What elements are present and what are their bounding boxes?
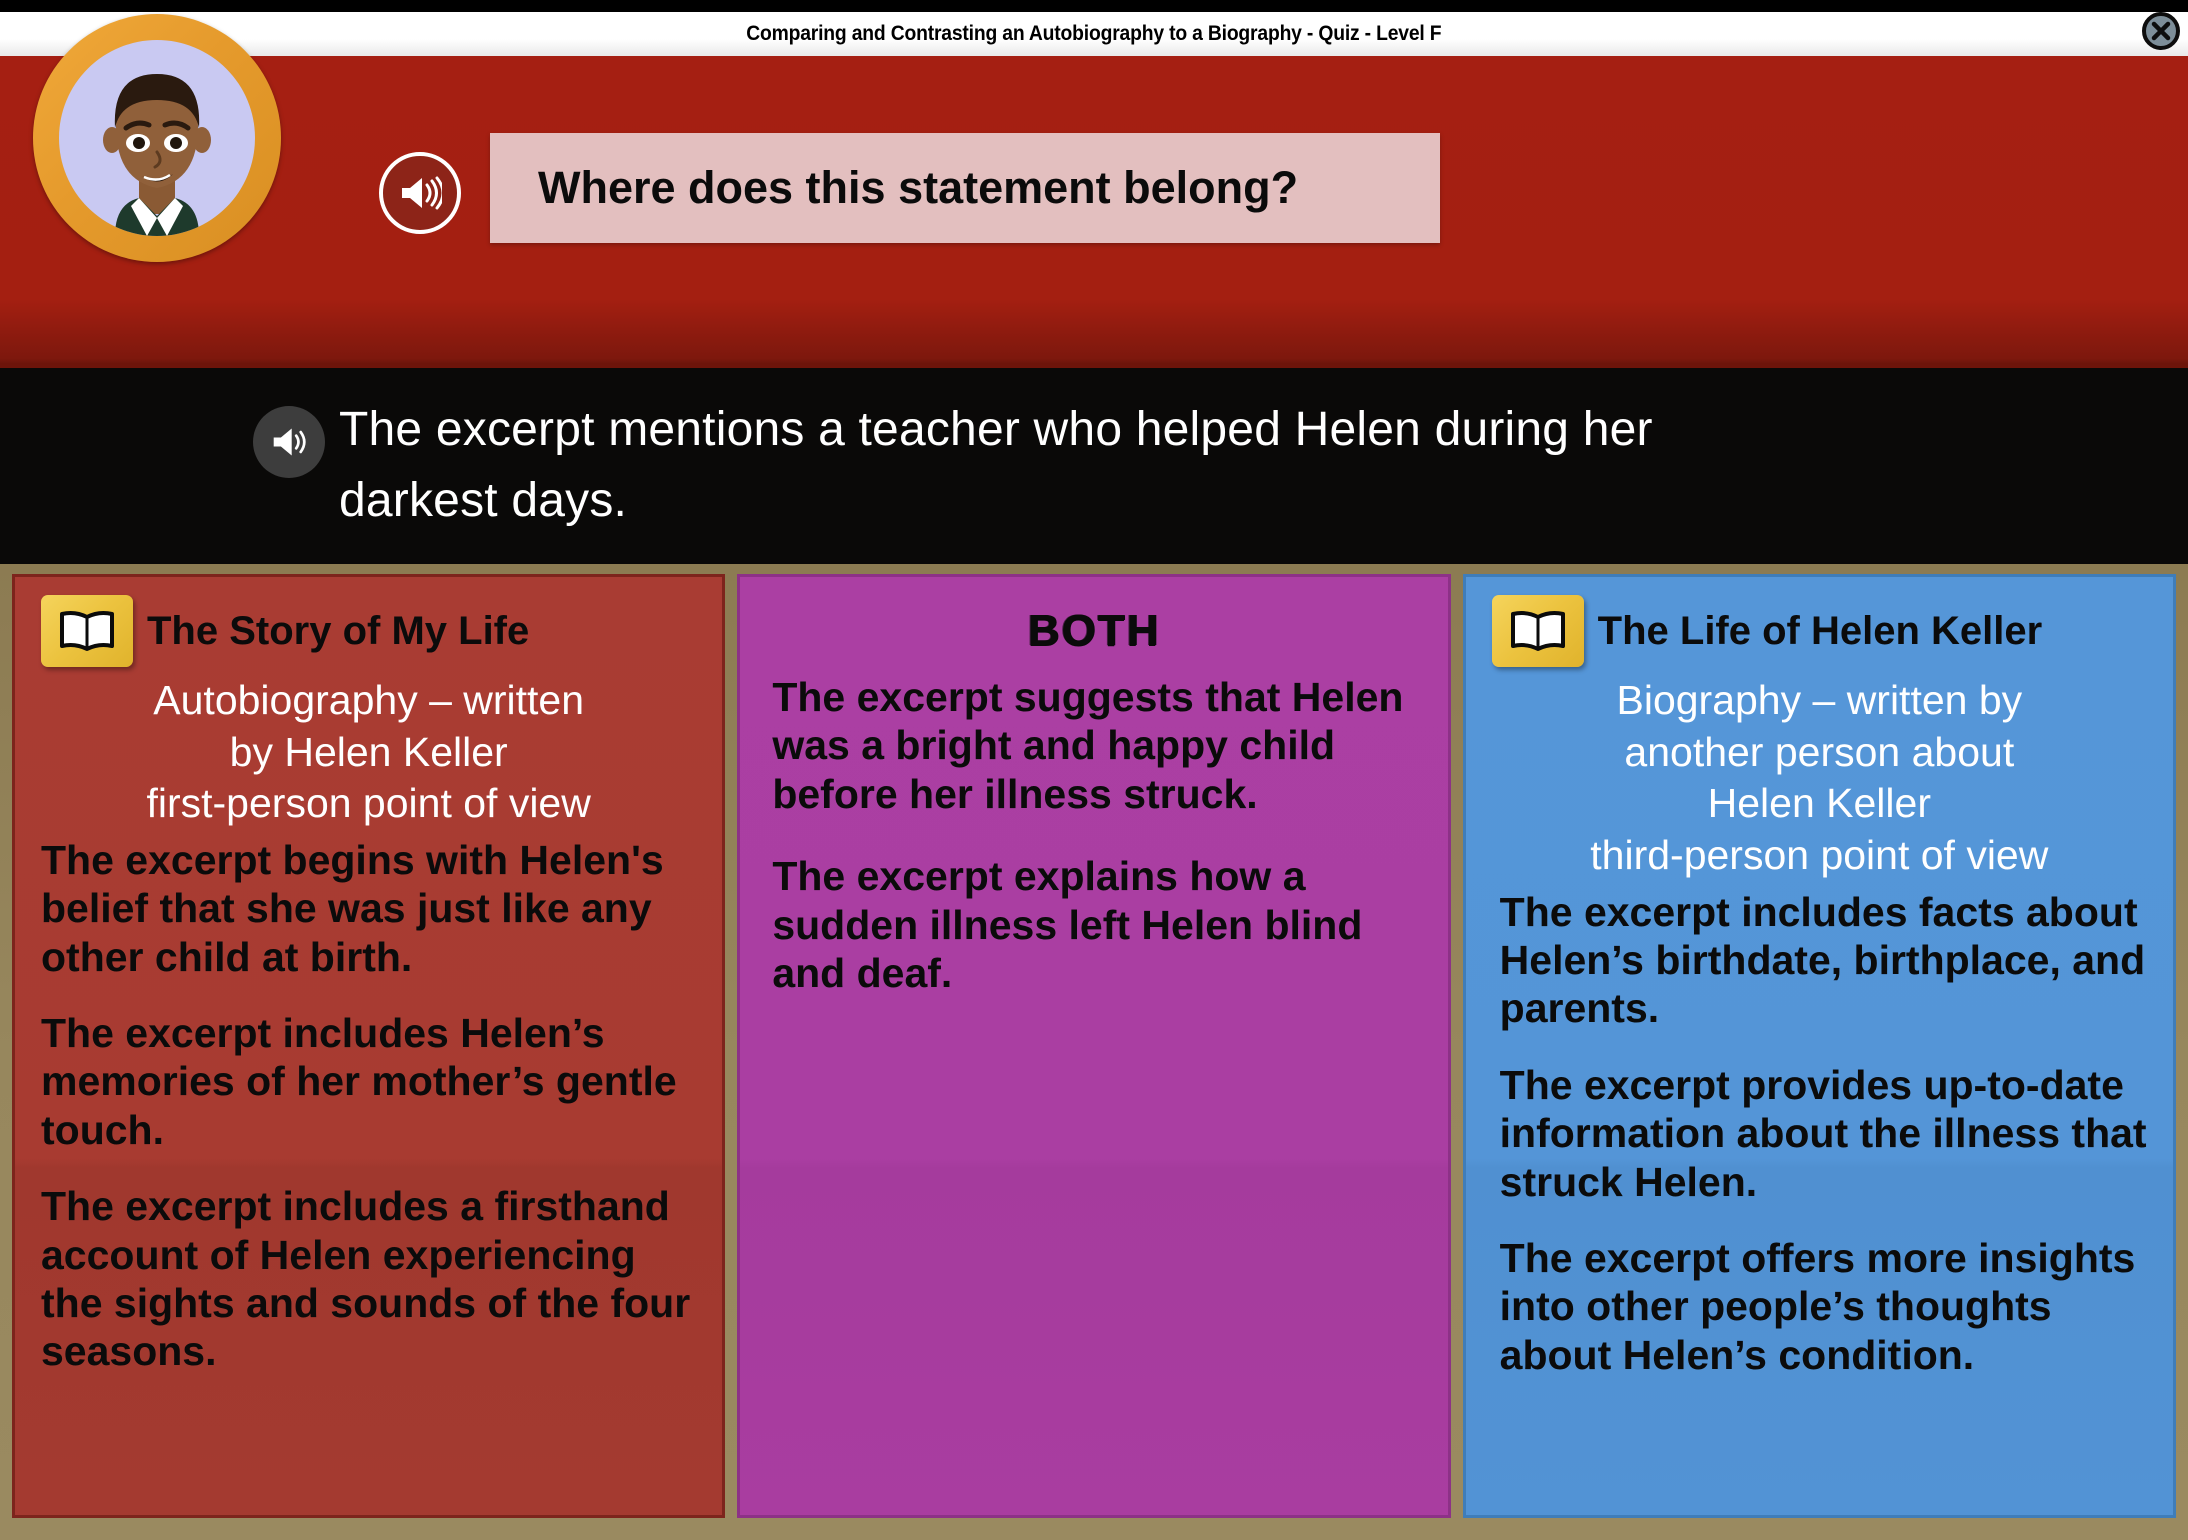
list-item[interactable]: The excerpt begins with Helen's belief t… [41, 836, 700, 981]
list-item[interactable]: The excerpt includes facts about Helen’s… [1500, 888, 2147, 1033]
question-text: Where does this statement belong? [538, 162, 1298, 214]
column-items-left: The excerpt begins with Helen's belief t… [15, 836, 722, 1376]
column-header-both: BOTH [740, 577, 1447, 673]
title-bar: Comparing and Contrasting an Autobiograp… [0, 12, 2188, 56]
column-subtitle-right: Biography – written by another person ab… [1466, 673, 2173, 888]
sorting-columns-frame: The Story of My Life Autobiography – wri… [0, 564, 2188, 1540]
column-header-left: The Story of My Life [15, 577, 722, 673]
column-items-right: The excerpt includes facts about Helen’s… [1466, 888, 2173, 1379]
speaker-icon-question[interactable] [379, 152, 461, 234]
list-item[interactable]: The excerpt provides up-to-date informat… [1500, 1061, 2147, 1206]
open-book-icon [41, 595, 133, 667]
list-item[interactable]: The excerpt includes a firsthand account… [41, 1182, 700, 1376]
list-item[interactable]: The excerpt explains how a sudden illnes… [772, 852, 1421, 997]
list-item[interactable]: The excerpt includes Helen’s memories of… [41, 1009, 700, 1154]
quiz-app: Comparing and Contrasting an Autobiograp… [0, 0, 2188, 1540]
statement-text: The excerpt mentions a teacher who helpe… [339, 394, 1759, 536]
column-items-both: The excerpt suggests that Helen was a br… [740, 673, 1447, 997]
column-life-of-helen-keller[interactable]: The Life of Helen Keller Biography – wri… [1463, 574, 2176, 1518]
column-header-right: The Life of Helen Keller [1466, 577, 2173, 673]
close-icon[interactable] [2142, 12, 2180, 50]
avatar-face [59, 40, 255, 236]
list-item[interactable]: The excerpt suggests that Helen was a br… [772, 673, 1421, 818]
column-title-right: The Life of Helen Keller [1598, 609, 2043, 654]
avatar [33, 14, 281, 262]
list-item[interactable]: The excerpt offers more insights into ot… [1500, 1234, 2147, 1379]
column-title-both: BOTH [1028, 606, 1161, 656]
column-story-of-my-life[interactable]: The Story of My Life Autobiography – wri… [12, 574, 725, 1518]
speaker-icon-statement[interactable] [253, 406, 325, 478]
question-banner: Where does this statement belong? [490, 133, 1440, 243]
open-book-icon [1492, 595, 1584, 667]
top-black-strip [0, 0, 2188, 12]
column-both[interactable]: BOTH The excerpt suggests that Helen was… [737, 574, 1450, 1518]
window-title: Comparing and Contrasting an Autobiograp… [746, 22, 1441, 46]
column-title-left: The Story of My Life [147, 609, 529, 654]
column-subtitle-left: Autobiography – written by Helen Keller … [15, 673, 722, 836]
